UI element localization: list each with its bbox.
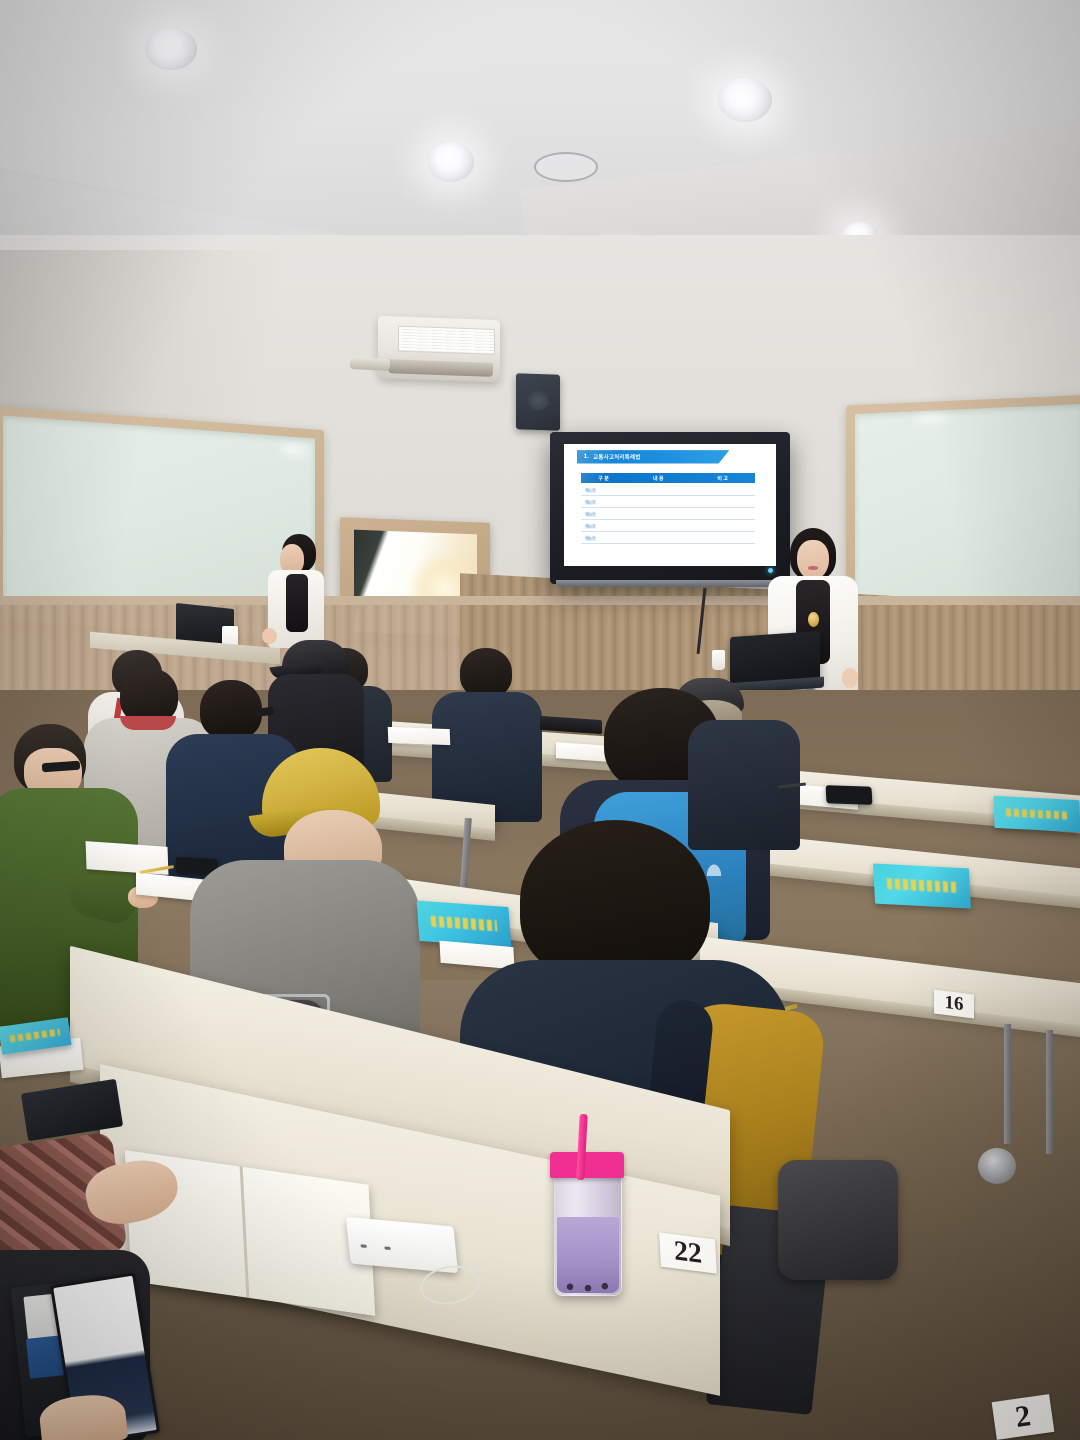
display-glare xyxy=(564,444,641,493)
booklet-title-text xyxy=(887,879,957,893)
bubble-tea-tumbler[interactable] xyxy=(554,1172,622,1296)
slide-table-row: 제4조 xyxy=(581,523,755,532)
desk-number-22: 22 xyxy=(659,1232,717,1273)
air-conditioner-grille xyxy=(398,325,495,355)
course-booklet[interactable] xyxy=(993,796,1080,833)
slide-row-label-3: 제4조 xyxy=(585,524,596,530)
instructor-podium-lips xyxy=(808,566,818,570)
student-blue-back-head xyxy=(460,648,512,698)
display-stand xyxy=(556,580,784,587)
slide-table-row: 제5조 xyxy=(581,536,755,545)
tapioca-pearls xyxy=(558,1279,618,1292)
wall-speaker xyxy=(516,373,560,431)
slide-row-label-0: 제1조 xyxy=(585,488,596,494)
classroom-scene: 1. 교통사고처리특례법 구 분 내 용 비 고 제1조 제2조 제3조 제4조… xyxy=(0,0,1080,1440)
speaker-cone xyxy=(527,390,550,410)
air-conditioner-vane xyxy=(388,360,493,377)
downlight-1 xyxy=(145,28,197,70)
desk-leg xyxy=(1004,1024,1011,1144)
whiteboard-right-glare xyxy=(915,414,949,423)
white-power-bank[interactable] xyxy=(346,1217,458,1273)
handout-paper xyxy=(388,727,451,745)
slide-table-row: 제3조 xyxy=(581,511,755,520)
chair[interactable] xyxy=(778,1160,898,1280)
desk-number-2: 2 xyxy=(992,1394,1055,1440)
slide-table-row: 제2조 xyxy=(581,499,755,508)
tumbler-lid[interactable] xyxy=(550,1152,624,1178)
power-bank-port xyxy=(384,1246,390,1250)
slide-th-2: 비 고 xyxy=(690,475,754,482)
podium-paper-cup xyxy=(712,650,725,670)
slide-row-label-2: 제3조 xyxy=(585,512,596,518)
wall-mounted-display[interactable]: 1. 교통사고처리특례법 구 분 내 용 비 고 제1조 제2조 제3조 제4조… xyxy=(550,432,790,584)
student-olive-black-head xyxy=(520,820,710,982)
downlight-2 xyxy=(718,78,772,122)
booklet-title-text xyxy=(1006,808,1068,820)
slide-table-row: 제1조 xyxy=(581,487,755,496)
slide-row-label-1: 제2조 xyxy=(585,500,596,506)
course-booklet[interactable] xyxy=(873,863,971,908)
desk-leg xyxy=(1046,1030,1053,1154)
slide-row-label-4: 제5조 xyxy=(585,536,596,542)
instructor-podium-face xyxy=(797,540,829,580)
whiteboard-left-glare xyxy=(281,444,307,456)
air-conditioner xyxy=(378,316,500,382)
instructor-wb-top xyxy=(286,574,308,632)
booklet-title-text xyxy=(9,1029,60,1043)
student-navy-shirt-glasses xyxy=(252,707,275,717)
air-conditioner-pipe xyxy=(350,357,391,371)
instructor-podium-necklace xyxy=(808,612,819,627)
instructor-podium-hand xyxy=(842,668,858,688)
smartphone[interactable] xyxy=(826,785,873,805)
power-bank-port xyxy=(361,1244,367,1248)
wainscot-trim xyxy=(0,596,1080,605)
downlight-3 xyxy=(428,142,474,182)
notebook-spine xyxy=(239,1166,249,1298)
ceiling-vent xyxy=(534,152,598,182)
desk-caster xyxy=(978,1148,1016,1184)
desk-number-16: 16 xyxy=(934,990,974,1019)
display-screen: 1. 교통사고처리특례법 구 분 내 용 비 고 제1조 제2조 제3조 제4조… xyxy=(564,444,776,566)
slide-th-1: 내 용 xyxy=(626,475,690,482)
